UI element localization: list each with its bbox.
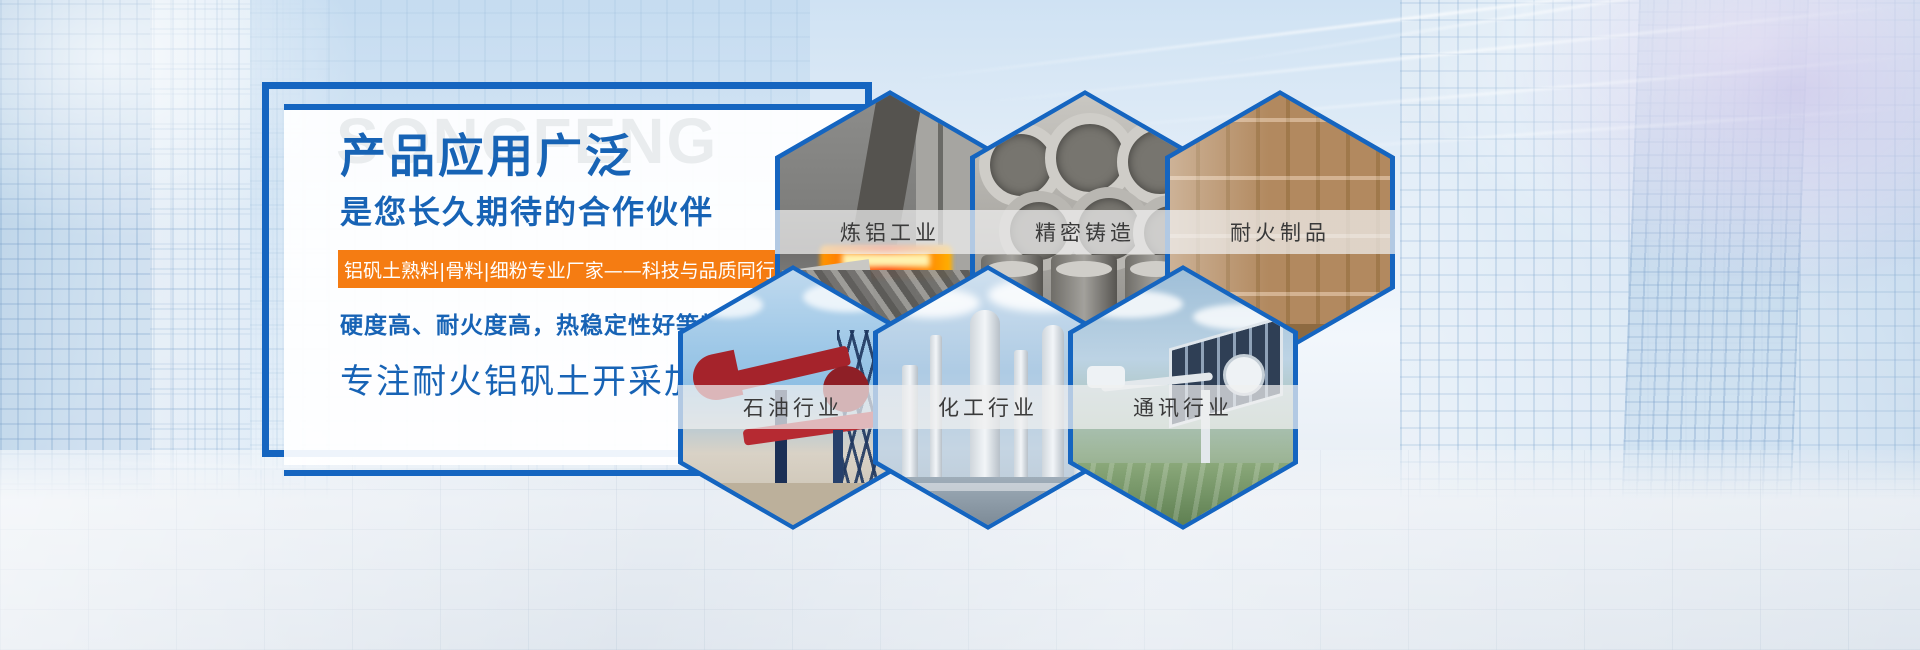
- page-title: 产品应用广泛: [340, 120, 634, 186]
- promo-banner: SONGFENG 产品应用广泛 是您长久期待的合作伙伴 铝矾土熟料|骨料|细粉专…: [0, 0, 1920, 650]
- industry-hexagon-grid: 炼铝工业 精密铸造 耐火制品: [660, 90, 1300, 530]
- hexagon-label: 耐火制品: [1165, 210, 1395, 254]
- hexagon-label: 通讯行业: [1068, 385, 1298, 429]
- background-violet-haze: [1500, 0, 1920, 300]
- page-subtitle: 是您长久期待的合作伙伴: [340, 187, 714, 233]
